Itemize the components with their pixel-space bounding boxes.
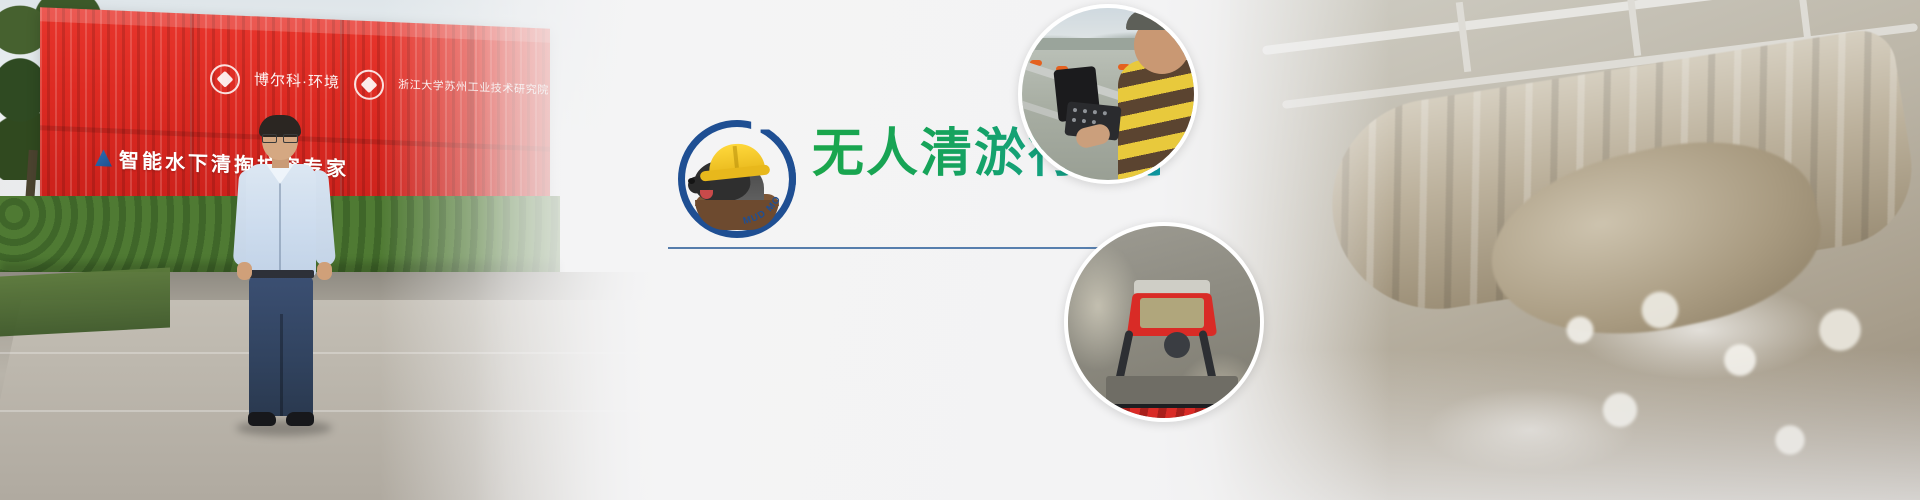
- control-button: [1103, 111, 1107, 115]
- inset-photo-robot: [1068, 226, 1260, 418]
- boerke-mark-text: 博尔科·环境: [254, 72, 340, 91]
- robot-motor: [1164, 332, 1190, 358]
- inset-red-dredging-robot: [1064, 222, 1264, 422]
- control-button: [1083, 109, 1087, 113]
- boerke-emblem-icon: [210, 64, 240, 95]
- grass-strip: [0, 268, 170, 337]
- control-button: [1093, 110, 1097, 114]
- control-button: [1082, 119, 1086, 123]
- slogan-badge-icon: [95, 149, 112, 167]
- operator-cap: [1126, 10, 1196, 30]
- logo-arc-label: MUD MOLE: [678, 120, 784, 227]
- leg-split: [280, 314, 283, 416]
- inset-photo-operator: [1022, 8, 1194, 180]
- control-button: [1072, 118, 1076, 122]
- logo-arc-text: MUD MOLE: [678, 120, 796, 238]
- right-shoe: [286, 412, 314, 426]
- control-button: [1092, 120, 1096, 124]
- belt: [248, 270, 314, 278]
- control-button: [1073, 108, 1077, 112]
- left-shoe: [248, 412, 276, 426]
- university-emblem-icon: [354, 69, 384, 100]
- right-photo: [1160, 0, 1920, 500]
- hero-banner: 博尔科·环境 浙江大学苏州工业技术研究院 智能水下清掏扩容专家: [0, 0, 1920, 500]
- glasses-icon: [262, 134, 298, 141]
- inset-operator-with-remote-control: [1018, 4, 1198, 184]
- engineer-figure: [228, 118, 336, 438]
- shirt-placket: [279, 176, 281, 272]
- robot-inner-module: [1140, 298, 1204, 328]
- right-hand: [317, 262, 332, 280]
- left-photo: 博尔科·环境 浙江大学苏州工业技术研究院 智能水下清掏扩容专家: [0, 0, 660, 500]
- container-panel-line: [190, 14, 194, 226]
- operator-torso: [1118, 60, 1198, 184]
- university-mark-text: 浙江大学苏州工业技术研究院: [398, 80, 549, 97]
- mud-mole-logo: MUD MOLE: [678, 120, 796, 238]
- left-hand: [237, 262, 252, 280]
